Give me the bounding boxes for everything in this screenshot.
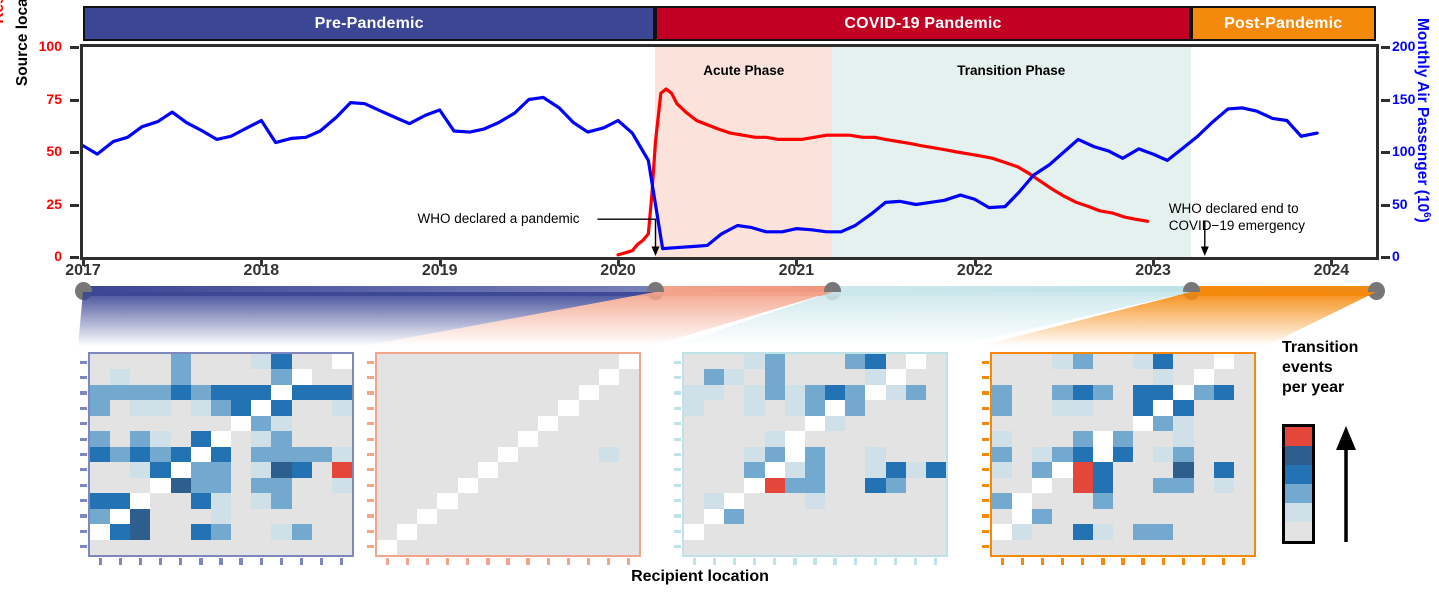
heatmap-cell: [90, 385, 110, 400]
x-axis-tick-mark: [1330, 258, 1333, 266]
heatmap-cell: [805, 478, 825, 493]
heatmap-cell: [110, 478, 130, 493]
heatmap-cell: [1113, 431, 1133, 446]
heatmap-row-tick: [674, 545, 681, 548]
heatmap-cell: [231, 431, 251, 446]
heatmap-cell: [110, 509, 130, 524]
heatmap-cell: [704, 509, 724, 524]
heatmap-cell: [458, 431, 478, 446]
heatmap-cell: [785, 400, 805, 415]
heatmap-cell: [1113, 524, 1133, 539]
heatmap-cell: [704, 462, 724, 477]
heatmap-cell: [1234, 462, 1254, 477]
heatmap-cell: [251, 540, 271, 555]
heatmap-row-tick: [982, 361, 989, 364]
heatmap-cell: [1153, 524, 1173, 539]
heatmap-cell: [397, 478, 417, 493]
heatmap-cell: [1214, 478, 1234, 493]
heatmap-row-tick: [367, 468, 374, 471]
heatmap-cell: [518, 416, 538, 431]
heatmap-cell: [332, 509, 352, 524]
heatmap-cell: [292, 369, 312, 384]
legend-color-band: [1285, 484, 1312, 503]
heatmap-cell: [992, 462, 1012, 477]
heatmap-cell: [231, 478, 251, 493]
heatmap-cell: [1073, 400, 1093, 415]
heatmap-cell: [150, 369, 170, 384]
heatmap-cell: [825, 447, 845, 462]
heatmap-row-tick: [80, 499, 87, 502]
heatmap-cell: [724, 493, 744, 508]
heatmap-cell: [1153, 493, 1173, 508]
heatmap-col-tick: [159, 558, 162, 565]
heatmap-cell: [558, 369, 578, 384]
heatmap-cell: [538, 369, 558, 384]
acute-phase-heatmap: [375, 352, 641, 557]
heatmap-cell: [906, 354, 926, 369]
heatmap-cell: [498, 416, 518, 431]
heatmap-cell: [1214, 509, 1234, 524]
heatmap-cell: [171, 493, 191, 508]
heatmap-cell: [599, 400, 619, 415]
heatmap-row-tick: [982, 453, 989, 456]
heatmap-cell: [171, 447, 191, 462]
heatmap-cell: [231, 493, 251, 508]
heatmap-cell: [785, 447, 805, 462]
heatmap-col-tick: [506, 558, 509, 565]
heatmap-row-tick: [674, 468, 681, 471]
heatmap-cell: [417, 478, 437, 493]
heatmap-cell: [271, 509, 291, 524]
heatmap-cell: [1234, 493, 1254, 508]
heatmap-cell: [744, 416, 764, 431]
heatmap-cell: [926, 540, 946, 555]
heatmap-cell: [1173, 478, 1193, 493]
heatmap-cell: [458, 416, 478, 431]
heatmap-cell: [926, 493, 946, 508]
legend-title: Transitioneventsper year: [1282, 338, 1439, 398]
heatmap-cell: [130, 354, 150, 369]
heatmap-col-tick: [753, 558, 756, 565]
heatmap-col-tick: [567, 558, 570, 565]
heatmap-cell: [312, 524, 332, 539]
heatmap-cell: [825, 385, 845, 400]
heatmap-cell: [191, 447, 211, 462]
heatmap-cell: [231, 400, 251, 415]
heatmap-cell: [992, 385, 1012, 400]
heatmap-cell: [1093, 369, 1113, 384]
heatmap-cell: [150, 478, 170, 493]
heatmap-cell: [1093, 462, 1113, 477]
heatmap-cell: [90, 493, 110, 508]
heatmap-cell: [1153, 354, 1173, 369]
heatmap-cell: [292, 509, 312, 524]
x-axis-tick-mark: [260, 258, 263, 266]
heatmap-cell: [1012, 354, 1032, 369]
heatmap-col-tick: [1182, 558, 1185, 565]
heatmap-cell: [292, 431, 312, 446]
heatmap-cell: [251, 509, 271, 524]
heatmap-cell: [130, 385, 150, 400]
heatmap-cell: [1194, 400, 1214, 415]
heatmap-cell: [558, 524, 578, 539]
heatmap-col-tick: [139, 558, 142, 565]
heatmap-cell: [886, 509, 906, 524]
heatmap-cell: [231, 354, 251, 369]
heatmap-cell: [211, 369, 231, 384]
heatmap-col-tick: [300, 558, 303, 565]
heatmap-cell: [1194, 354, 1214, 369]
heatmap-cell: [437, 478, 457, 493]
heatmap-cell: [1012, 447, 1032, 462]
heatmap-cell: [724, 509, 744, 524]
heatmap-col-tick: [1021, 558, 1024, 565]
heatmap-cell: [619, 540, 639, 555]
heatmap-cell: [906, 369, 926, 384]
heatmap-cell: [271, 493, 291, 508]
heatmap-cell: [498, 369, 518, 384]
y-axis-left-title: Response Stringency Index: [0, 0, 8, 42]
heatmap-cell: [1093, 385, 1113, 400]
heatmap-cell: [845, 524, 865, 539]
heatmap-cell: [926, 354, 946, 369]
heatmap-cell: [150, 416, 170, 431]
heatmap-cell: [1133, 354, 1153, 369]
heatmap-cell: [1052, 462, 1072, 477]
heatmap-cell: [498, 447, 518, 462]
heatmap-cell: [211, 509, 231, 524]
heatmap-cell: [191, 400, 211, 415]
heatmap-cell: [417, 462, 437, 477]
heatmap-cell: [1113, 416, 1133, 431]
heatmap-cell: [90, 400, 110, 415]
heatmap-cell: [130, 540, 150, 555]
heatmap-cell: [1153, 385, 1173, 400]
heatmap-cell: [292, 540, 312, 555]
chart-plot-area: Acute PhaseTransition Phase WHO declared…: [80, 44, 1379, 260]
heatmap-cell: [744, 462, 764, 477]
heatmap-cell: [292, 400, 312, 415]
heatmap-cell: [498, 509, 518, 524]
heatmap-cell: [332, 400, 352, 415]
y-right-tick-mark: [1381, 204, 1390, 207]
heatmap-cell: [1052, 447, 1072, 462]
heatmap-cell: [1073, 369, 1093, 384]
heatmap-cell: [332, 524, 352, 539]
heatmap-cell: [619, 385, 639, 400]
heatmap-cell: [558, 385, 578, 400]
heatmap-cell: [906, 493, 926, 508]
heatmap-cell: [1153, 509, 1173, 524]
heatmap-cell: [538, 431, 558, 446]
heatmap-cell: [191, 462, 211, 477]
heatmap-cell: [1214, 524, 1234, 539]
heatmap-cell: [1032, 400, 1052, 415]
heatmap-cell: [1214, 400, 1234, 415]
heatmap-cell: [906, 400, 926, 415]
heatmap-cell: [150, 462, 170, 477]
heatmap-cell: [845, 509, 865, 524]
heatmap-cell: [478, 447, 498, 462]
heatmap-cell: [271, 369, 291, 384]
heatmap-cell: [292, 354, 312, 369]
heatmap-cell: [130, 509, 150, 524]
heatmap-cell: [538, 385, 558, 400]
heatmap-cell: [992, 509, 1012, 524]
heatmap-cell: [1093, 447, 1113, 462]
y-right-tick-mark: [1381, 151, 1390, 154]
heatmap-cell: [478, 385, 498, 400]
heatmap-cell: [579, 509, 599, 524]
heatmap-row-tick: [674, 438, 681, 441]
heatmap-cell: [90, 478, 110, 493]
heatmap-cell: [906, 385, 926, 400]
heatmap-cell: [1012, 540, 1032, 555]
heatmap-col-tick: [1121, 558, 1124, 565]
heatmap-cell: [191, 493, 211, 508]
heatmap-cell: [417, 524, 437, 539]
heatmap-cell: [478, 478, 498, 493]
heatmap-col-tick: [340, 558, 343, 565]
heatmap-cell: [845, 369, 865, 384]
heatmap-cell: [1113, 509, 1133, 524]
heatmap-col-tick: [733, 558, 736, 565]
heatmap-cell: [377, 400, 397, 415]
heatmap-cell: [130, 478, 150, 493]
heatmap-cell: [1113, 385, 1133, 400]
heatmap-cell: [211, 524, 231, 539]
heatmap-cell: [458, 447, 478, 462]
heatmap-cell: [538, 400, 558, 415]
heatmap-cell: [744, 540, 764, 555]
heatmap-cell: [785, 493, 805, 508]
heatmap-cell: [171, 462, 191, 477]
heatmap-cell: [312, 385, 332, 400]
heatmap-cell: [498, 462, 518, 477]
x-axis-tick-mark: [617, 258, 620, 266]
heatmap-cell: [992, 431, 1012, 446]
heatmap-cell: [171, 540, 191, 555]
heatmap-cell: [538, 447, 558, 462]
heatmap-cell: [1194, 385, 1214, 400]
heatmap-row-tick: [674, 530, 681, 533]
heatmap-cell: [377, 369, 397, 384]
heatmap-cell: [765, 400, 785, 415]
heatmap-cell: [231, 416, 251, 431]
source-location-axis-label: Source location: [14, 0, 32, 128]
heatmap-col-tick: [874, 558, 877, 565]
heatmap-row-tick: [80, 361, 87, 364]
x-axis-tick-mark: [974, 258, 977, 266]
annotation-text-line: COVID−19 emergency: [1169, 217, 1305, 234]
heatmap-cell: [417, 431, 437, 446]
heatmap-cell: [1173, 369, 1193, 384]
heatmap-cell: [1073, 385, 1093, 400]
heatmap-cell: [825, 478, 845, 493]
heatmap-cell: [704, 524, 724, 539]
heatmap-cell: [825, 524, 845, 539]
heatmap-cell: [1052, 354, 1072, 369]
heatmap-cell: [765, 354, 785, 369]
heatmap-cell: [1173, 416, 1193, 431]
heatmap-cell: [599, 524, 619, 539]
heatmap-cell: [211, 416, 231, 431]
heatmap-row-tick: [674, 453, 681, 456]
heatmap-cell: [825, 509, 845, 524]
heatmap-row-tick: [80, 438, 87, 441]
heatmap-cell: [724, 416, 744, 431]
heatmap-cell: [619, 416, 639, 431]
heatmap-cell: [1052, 416, 1072, 431]
heatmap-cell: [377, 540, 397, 555]
heatmap-cell: [1214, 431, 1234, 446]
heatmap-cell: [1173, 385, 1193, 400]
heatmap-col-tick: [547, 558, 550, 565]
heatmap-cell: [599, 493, 619, 508]
y-left-tick-mark: [70, 46, 79, 49]
heatmap-cell: [1012, 416, 1032, 431]
heatmap-row-tick: [982, 545, 989, 548]
heatmap-col-tick: [179, 558, 182, 565]
heatmap-cell: [130, 524, 150, 539]
heatmap-row-tick: [80, 407, 87, 410]
heatmap-col-tick: [713, 558, 716, 565]
heatmap-cell: [1194, 447, 1214, 462]
heatmap-cell: [845, 447, 865, 462]
y-right-tick-mark: [1381, 99, 1390, 102]
heatmap-cell: [1113, 447, 1133, 462]
heatmap-cell: [992, 493, 1012, 508]
heatmap-cell: [744, 493, 764, 508]
heatmap-cell: [130, 416, 150, 431]
heatmap-cell: [1234, 385, 1254, 400]
heatmap-cell: [417, 400, 437, 415]
y-left-tick-mark: [70, 256, 79, 259]
heatmap-cell: [110, 431, 130, 446]
heatmap-cell: [684, 540, 704, 555]
heatmap-cell: [1093, 478, 1113, 493]
heatmap-cell: [684, 462, 704, 477]
heatmap-col-tick: [1162, 558, 1165, 565]
heatmap-cell: [886, 540, 906, 555]
heatmap-cell: [1093, 416, 1113, 431]
heatmap-cell: [724, 369, 744, 384]
y-right-tick-mark: [1381, 256, 1390, 259]
heatmap-cell: [1214, 447, 1234, 462]
heatmap-cell: [377, 447, 397, 462]
heatmap-cell: [1133, 369, 1153, 384]
heatmap-cell: [417, 540, 437, 555]
heatmap-cell: [498, 385, 518, 400]
heatmap-cell: [271, 540, 291, 555]
heatmap-cell: [251, 354, 271, 369]
heatmap-cell: [150, 524, 170, 539]
heatmap-cell: [724, 540, 744, 555]
heatmap-cell: [926, 416, 946, 431]
heatmap-cell: [1194, 431, 1214, 446]
heatmap-cell: [312, 447, 332, 462]
heatmap-cell: [518, 354, 538, 369]
heatmap-cell: [312, 540, 332, 555]
heatmap-cell: [478, 540, 498, 555]
heatmap-cell: [619, 524, 639, 539]
heatmap-cell: [1173, 400, 1193, 415]
heatmap-cell: [1173, 540, 1193, 555]
heatmap-cell: [251, 385, 271, 400]
heatmap-cell: [211, 385, 231, 400]
heatmap-cell: [518, 369, 538, 384]
heatmap-cell: [704, 431, 724, 446]
heatmap-col-tick: [894, 558, 897, 565]
heatmap-cell: [1194, 509, 1214, 524]
annotation-text-line: WHO declared end to: [1169, 200, 1305, 217]
x-axis-tick-mark: [795, 258, 798, 266]
heatmap-row-tick: [367, 545, 374, 548]
heatmap-cell: [579, 493, 599, 508]
heatmap-cell: [417, 493, 437, 508]
heatmap-col-tick: [260, 558, 263, 565]
heatmap-cell: [765, 493, 785, 508]
heatmap-cell: [886, 493, 906, 508]
heatmap-cell: [558, 478, 578, 493]
heatmap-cell: [1214, 416, 1234, 431]
heatmap-cell: [397, 416, 417, 431]
heatmap-cell: [150, 509, 170, 524]
heatmap-cell: [171, 354, 191, 369]
heatmap-col-tick: [693, 558, 696, 565]
heatmap-cell: [417, 509, 437, 524]
heatmap-cell: [926, 524, 946, 539]
heatmap-cell: [599, 540, 619, 555]
heatmap-cell: [865, 447, 885, 462]
heatmap-cell: [231, 462, 251, 477]
heatmap-cell: [1153, 431, 1173, 446]
heatmap-cell: [171, 431, 191, 446]
heatmap-cell: [599, 369, 619, 384]
heatmap-cell: [1133, 400, 1153, 415]
heatmap-col-tick: [1101, 558, 1104, 565]
heatmap-cell: [684, 509, 704, 524]
heatmap-cell: [332, 416, 352, 431]
heatmap-cell: [458, 354, 478, 369]
heatmap-cell: [765, 447, 785, 462]
heatmap-row-tick: [674, 422, 681, 425]
heatmap-cell: [171, 400, 191, 415]
heatmap-cell: [110, 462, 130, 477]
heatmap-cell: [906, 416, 926, 431]
heatmap-cell: [906, 509, 926, 524]
heatmap-col-tick: [607, 558, 610, 565]
heatmap-cell: [211, 462, 231, 477]
heatmap-cell: [992, 369, 1012, 384]
heatmap-grid: [90, 354, 352, 555]
heatmap-cell: [332, 354, 352, 369]
heatmap-cell: [1032, 509, 1052, 524]
legend-color-band: [1285, 465, 1312, 484]
heatmap-cell: [211, 431, 231, 446]
heatmap-row-tick: [674, 407, 681, 410]
heatmap-cell: [110, 385, 130, 400]
x-axis-tick-mark: [1152, 258, 1155, 266]
heatmap-cell: [458, 509, 478, 524]
heatmap-cell: [478, 509, 498, 524]
heatmap-cell: [397, 540, 417, 555]
heatmap-row-tick: [367, 407, 374, 410]
heatmap-row-tick: [674, 499, 681, 502]
heatmap-grid: [992, 354, 1254, 555]
heatmap-cell: [1153, 447, 1173, 462]
heatmap-cell: [619, 447, 639, 462]
